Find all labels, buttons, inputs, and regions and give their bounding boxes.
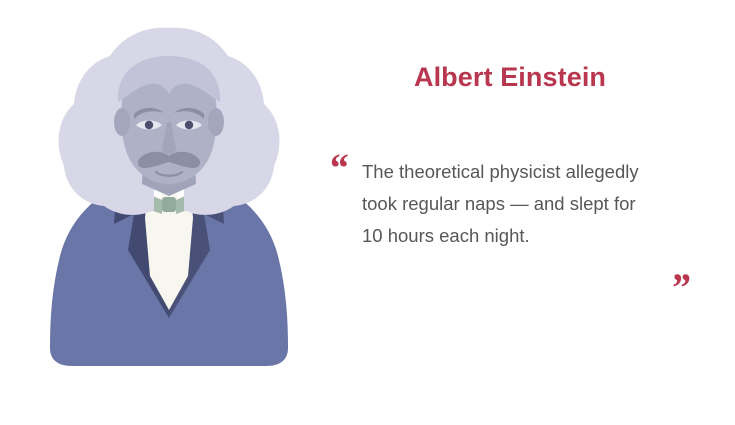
ear-right <box>208 108 224 136</box>
quote-line: 10 hours each night. <box>362 220 702 252</box>
quote-slide: Albert Einstein “ The theoretical physic… <box>0 0 735 425</box>
ear-left <box>114 108 130 136</box>
quote-close-icon: ” <box>670 268 690 308</box>
quote-text: The theoretical physicist allegedly took… <box>362 156 702 252</box>
portrait-panel <box>0 0 330 425</box>
quote-line: took regular naps — and slept for <box>362 188 702 220</box>
quote-line: The theoretical physicist allegedly <box>362 156 702 188</box>
quote-open-icon: “ <box>328 148 348 188</box>
quote-panel: Albert Einstein “ The theoretical physic… <box>310 0 735 425</box>
page-title: Albert Einstein <box>310 62 710 93</box>
einstein-portrait-illustration <box>38 18 300 373</box>
